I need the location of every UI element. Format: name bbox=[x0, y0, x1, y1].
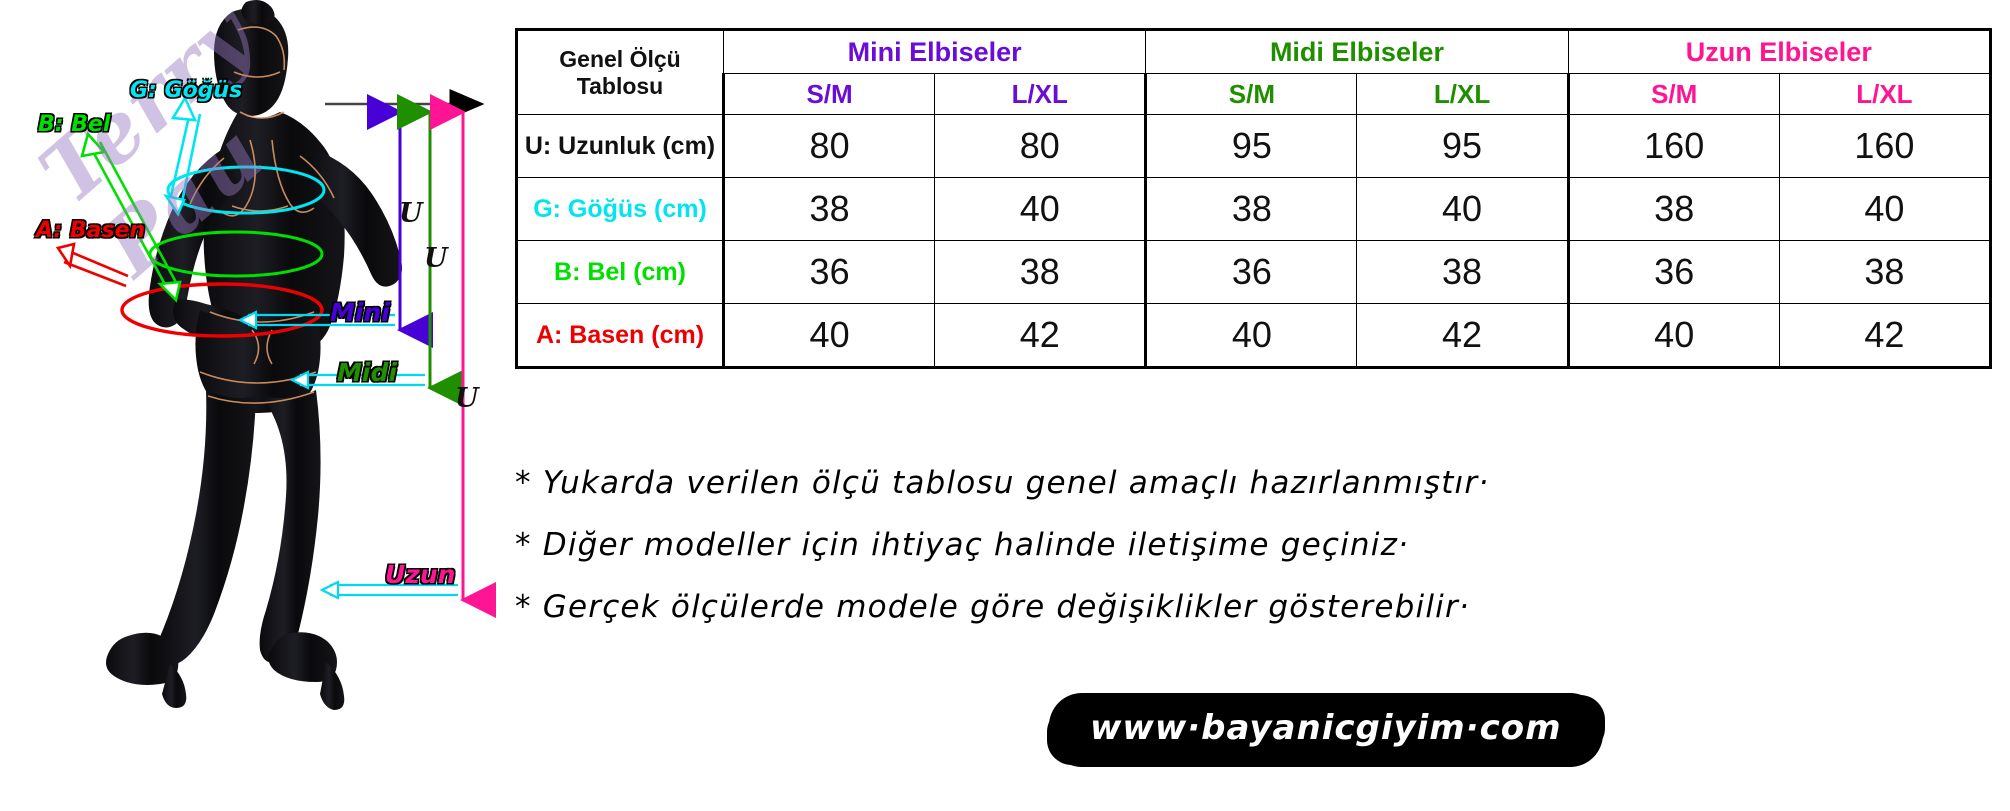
note-line-2: * Diğer modeller için ihtiyaç halinde il… bbox=[515, 514, 1995, 576]
group-header-mini: Mini Elbiseler bbox=[724, 30, 1146, 74]
cell-uzunluk-uzun-lxl: 160 bbox=[1779, 115, 1990, 178]
size-table: Genel Ölçü Tablosu Mini Elbiseler Midi E… bbox=[515, 28, 1992, 369]
length-marker-midi: U bbox=[424, 243, 448, 274]
size-header-mini-lxl: L/XL bbox=[935, 74, 1146, 115]
row-label-bel: B: Bel (cm) bbox=[517, 241, 724, 304]
size-header-uzun-lxl: L/XL bbox=[1779, 74, 1990, 115]
cell-uzunluk-mini-sm: 80 bbox=[724, 115, 935, 178]
group-header-uzun: Uzun Elbiseler bbox=[1568, 30, 1990, 74]
table-header-row-sizes: S/M L/XL S/M L/XL S/M L/XL bbox=[517, 74, 1991, 115]
row-label-gogus: G: Göğüs (cm) bbox=[517, 178, 724, 241]
cell-bel-midi-lxl: 38 bbox=[1357, 241, 1568, 304]
model-figure-panel: Terry Pau G: Göğüs B: Bel A: Basen Mini … bbox=[0, 0, 515, 811]
cell-basen-midi-lxl: 42 bbox=[1357, 304, 1568, 368]
note-line-1: * Yukarda verilen ölçü tablosu genel ama… bbox=[515, 452, 1995, 514]
cell-bel-midi-sm: 36 bbox=[1146, 241, 1357, 304]
group-header-midi: Midi Elbiseler bbox=[1146, 30, 1568, 74]
cell-basen-mini-sm: 40 bbox=[724, 304, 935, 368]
table-row: A: Basen (cm) 40 42 40 42 40 42 bbox=[517, 304, 1991, 368]
size-header-uzun-sm: S/M bbox=[1568, 74, 1779, 115]
cell-gogus-midi-lxl: 40 bbox=[1357, 178, 1568, 241]
size-header-mini-sm: S/M bbox=[724, 74, 935, 115]
cell-bel-uzun-sm: 36 bbox=[1568, 241, 1779, 304]
length-marker-mini: U bbox=[399, 198, 423, 229]
table-header-row-groups: Genel Ölçü Tablosu Mini Elbiseler Midi E… bbox=[517, 30, 1991, 74]
table-row: G: Göğüs (cm) 38 40 38 40 38 40 bbox=[517, 178, 1991, 241]
model-silhouette bbox=[106, 0, 402, 710]
cell-uzunluk-uzun-sm: 160 bbox=[1568, 115, 1779, 178]
cell-gogus-uzun-sm: 38 bbox=[1568, 178, 1779, 241]
cell-gogus-mini-lxl: 40 bbox=[935, 178, 1146, 241]
cell-basen-uzun-sm: 40 bbox=[1568, 304, 1779, 368]
table-row: B: Bel (cm) 36 38 36 38 36 38 bbox=[517, 241, 1991, 304]
table-corner-label: Genel Ölçü Tablosu bbox=[517, 30, 724, 115]
row-label-uzunluk: U: Uzunluk (cm) bbox=[517, 115, 724, 178]
cell-gogus-mini-sm: 38 bbox=[724, 178, 935, 241]
cell-bel-mini-lxl: 38 bbox=[935, 241, 1146, 304]
model-figure-illustration bbox=[0, 0, 515, 811]
cell-basen-midi-sm: 40 bbox=[1146, 304, 1357, 368]
cell-uzunluk-midi-lxl: 95 bbox=[1357, 115, 1568, 178]
size-table-container: Genel Ölçü Tablosu Mini Elbiseler Midi E… bbox=[515, 28, 1992, 369]
size-header-midi-lxl: L/XL bbox=[1357, 74, 1568, 115]
length-marker-uzun: U bbox=[455, 383, 479, 414]
cell-basen-uzun-lxl: 42 bbox=[1779, 304, 1990, 368]
cell-basen-mini-lxl: 42 bbox=[935, 304, 1146, 368]
cell-gogus-midi-sm: 38 bbox=[1146, 178, 1357, 241]
size-chart-page: Terry Pau G: Göğüs B: Bel A: Basen Mini … bbox=[0, 0, 2010, 811]
notes-section: * Yukarda verilen ölçü tablosu genel ama… bbox=[515, 452, 1995, 638]
cell-uzunluk-midi-sm: 95 bbox=[1146, 115, 1357, 178]
table-row: U: Uzunluk (cm) 80 80 95 95 160 160 bbox=[517, 115, 1991, 178]
cell-bel-uzun-lxl: 38 bbox=[1779, 241, 1990, 304]
row-label-basen: A: Basen (cm) bbox=[517, 304, 724, 368]
cell-gogus-uzun-lxl: 40 bbox=[1779, 178, 1990, 241]
cell-bel-mini-sm: 36 bbox=[724, 241, 935, 304]
website-url-banner[interactable]: www·bayanicgiyim·com bbox=[1056, 700, 1596, 760]
size-header-midi-sm: S/M bbox=[1146, 74, 1357, 115]
cell-uzunluk-mini-lxl: 80 bbox=[935, 115, 1146, 178]
note-line-3: * Gerçek ölçülerde modele göre değişikli… bbox=[515, 576, 1995, 638]
